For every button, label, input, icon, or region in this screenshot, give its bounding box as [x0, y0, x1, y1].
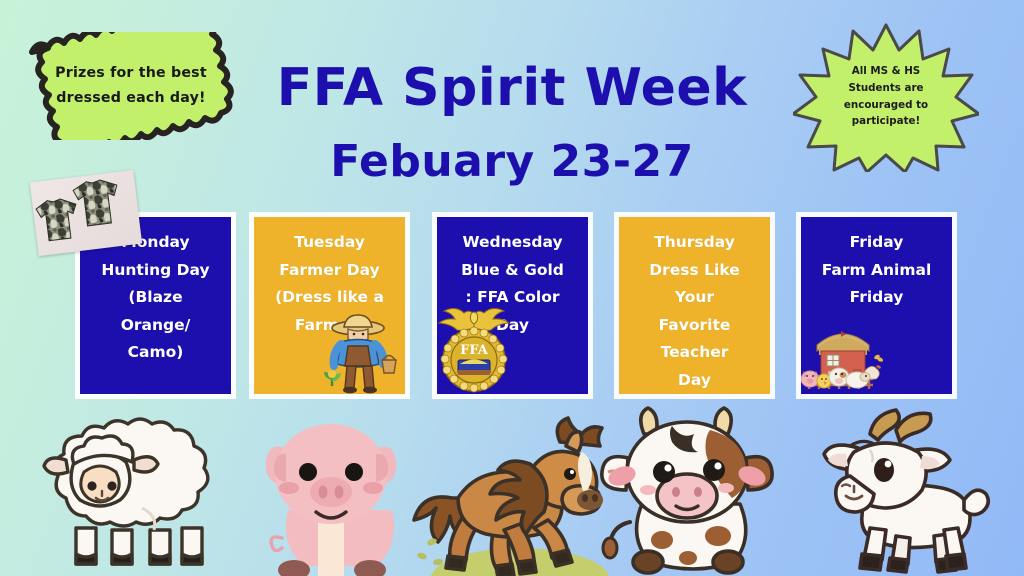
- poster-canvas: Prizes for the best dressed each day! Al…: [0, 0, 1024, 576]
- sheep-illustration: [22, 402, 262, 576]
- goat-illustration: [812, 404, 1010, 576]
- horse-illustration: [408, 412, 608, 576]
- cow-illustration: [596, 400, 786, 576]
- bottom-animals-row: [0, 0, 1024, 576]
- pig-illustration: [256, 414, 424, 576]
